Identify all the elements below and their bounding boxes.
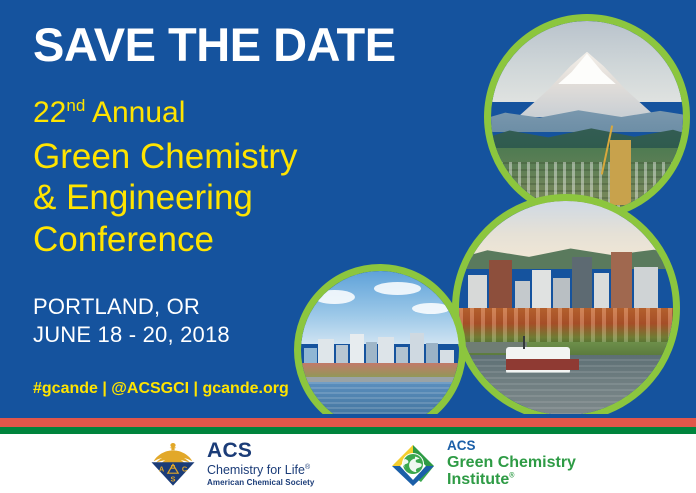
edition-word: Annual	[92, 96, 185, 129]
photo-circle-waterfront	[452, 194, 680, 418]
acs-registered-mark: ®	[305, 464, 310, 471]
poster-background: SAVE THE DATE 22nd Annual Green Chemistr…	[0, 0, 696, 418]
waterfront-photo	[459, 201, 673, 415]
conference-name-line-2: & Engineering	[33, 177, 298, 218]
acs-organization: American Chemical Society	[207, 479, 314, 487]
skyline-photo	[301, 271, 459, 418]
conference-name-line-3: Conference	[33, 219, 298, 260]
gci-line-green-chemistry: Green Chemistry	[447, 454, 576, 471]
acs-wordmark: ACS Chemistry for Life® American Chemica…	[207, 440, 314, 487]
stripe-red	[0, 418, 696, 427]
location-text: PORTLAND, OR	[33, 293, 230, 321]
acs-tagline-text: Chemistry for Life	[207, 463, 305, 477]
conference-name-line-1: Green Chemistry	[33, 136, 298, 177]
svg-text:S: S	[171, 474, 176, 483]
autumn-trees	[459, 308, 673, 347]
edition-suffix: nd	[66, 96, 85, 115]
boat-smokestack	[523, 336, 525, 349]
stripe-green	[0, 427, 696, 434]
gci-wordmark: ACS Green Chemistry Institute®	[447, 439, 576, 488]
acs-seal-icon: A C S	[148, 441, 198, 487]
location-and-dates: PORTLAND, OR JUNE 18 - 20, 2018	[33, 293, 230, 349]
acs-tagline: Chemistry for Life®	[207, 464, 314, 477]
photo-circle-skyline	[294, 264, 466, 418]
gci-line-acs: ACS	[447, 439, 576, 454]
downtown-skyline	[459, 252, 673, 312]
svg-text:C: C	[182, 464, 188, 473]
edition-line: 22nd Annual	[33, 98, 185, 128]
gci-registered-mark: ®	[509, 472, 514, 479]
acs-wordmark-acs: ACS	[207, 440, 314, 461]
sky	[459, 201, 673, 257]
mount-hood-photo	[491, 21, 683, 213]
boat-barge	[506, 359, 579, 370]
willamette-river	[301, 382, 459, 418]
gci-line-institute: Institute®	[447, 471, 576, 488]
page-title: SAVE THE DATE	[33, 21, 396, 68]
social-handles[interactable]: #gcande | @ACSGCI | gcande.org	[33, 380, 289, 398]
svg-text:A: A	[159, 464, 165, 473]
gci-globe-diamond-icon	[388, 442, 438, 486]
conference-name: Green Chemistry & Engineering Conference	[33, 136, 298, 260]
building-tower	[610, 140, 631, 205]
gci-institute-text: Institute	[447, 471, 509, 488]
footer-logo-bar: A C S ACS Chemistry for Life® American C…	[0, 434, 696, 493]
acs-logo: A C S ACS Chemistry for Life® American C…	[148, 434, 314, 493]
photo-circle-mount-hood	[484, 14, 690, 220]
acs-green-chemistry-institute-logo: ACS Green Chemistry Institute®	[388, 434, 576, 493]
dates-text: JUNE 18 - 20, 2018	[33, 321, 230, 349]
edition-number: 22	[33, 96, 66, 129]
save-the-date-poster: SAVE THE DATE 22nd Annual Green Chemistr…	[0, 0, 696, 493]
